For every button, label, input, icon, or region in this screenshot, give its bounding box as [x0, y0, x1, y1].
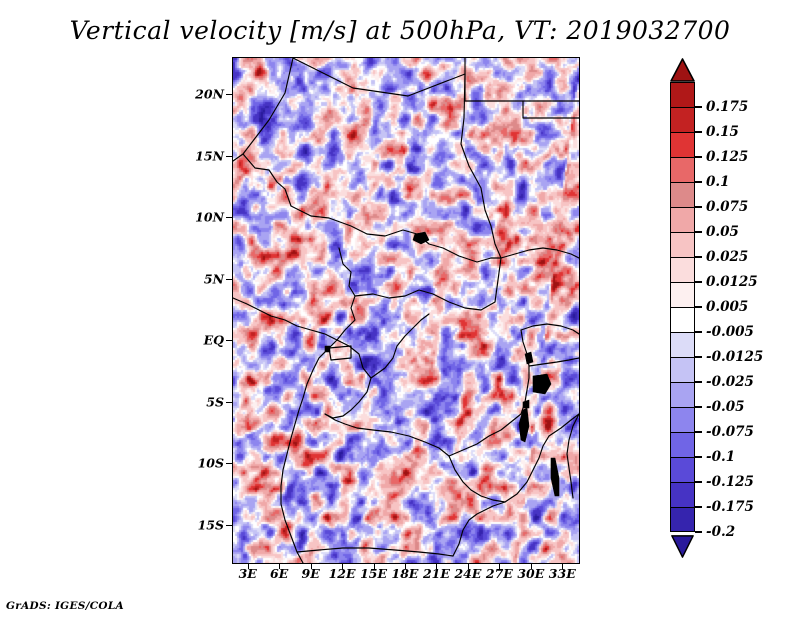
border-gabon-congo [325, 340, 371, 418]
x-tick-label-3e: 3E [239, 566, 257, 581]
border-zambia-tanzania [505, 436, 549, 502]
colorbar-tick-mark [695, 131, 702, 132]
colorbar-label: 0.0125 [706, 274, 758, 290]
coast-nigeria [285, 320, 337, 340]
colorbar-label: 0.05 [706, 224, 739, 240]
colorbar-label: 0.025 [706, 249, 748, 265]
colorbar-label: -0.1 [706, 449, 735, 465]
grads-attribution: GrADS: IGES/COLA [6, 600, 124, 612]
colorbar-tick-mark [695, 181, 702, 182]
colorbar-label: 0.15 [706, 124, 739, 140]
colorbar-label: 0.175 [706, 99, 748, 115]
colorbar-label: 0.125 [706, 149, 748, 165]
y-tick-mark [226, 463, 232, 464]
colorbar-band [670, 432, 695, 457]
colorbar-tick-mark [695, 531, 702, 532]
border-egypt-sudan [523, 101, 579, 118]
colorbar-tick-mark [695, 206, 702, 207]
border-ethiopia-kenya [521, 324, 579, 334]
colorbar-band [670, 307, 695, 332]
y-tick-label-15s: 15S [198, 518, 224, 533]
colorbar-band [670, 257, 695, 282]
colorbar-band [670, 382, 695, 407]
colorbar-tick-mark [695, 281, 702, 282]
colorbar-tick-mark [695, 506, 702, 507]
y-tick-label-5s: 5S [206, 394, 224, 409]
colorbar-band [670, 332, 695, 357]
colorbar-arrow-bottom-icon [670, 534, 695, 558]
border-sudan-ethiopia [501, 248, 579, 258]
border-algeria-niger [233, 58, 293, 161]
colorbar-label: -0.075 [706, 424, 754, 440]
page-title: Vertical velocity [m/s] at 500hPa, VT: 2… [0, 16, 800, 45]
colorbar-band [670, 482, 695, 507]
map-plot-area [232, 57, 580, 564]
colorbar-label: -0.125 [706, 474, 754, 490]
border-car-sudan [433, 258, 501, 310]
colorbar-tick-mark [695, 431, 702, 432]
y-tick-mark [226, 94, 232, 95]
colorbar-tick-mark [695, 406, 702, 407]
colorbar-band [670, 132, 695, 157]
colorbar-tick-mark [695, 481, 702, 482]
border-niger-chad [461, 74, 469, 166]
colorbar-tick-mark [695, 106, 702, 107]
colorbar-band [670, 282, 695, 307]
colorbar-label: 0.1 [706, 174, 730, 190]
colorbar-label: -0.2 [706, 524, 735, 540]
island-bioko [325, 346, 330, 352]
colorbar-band [670, 407, 695, 432]
colorbar-band [670, 207, 695, 232]
x-tick-label-21e: 21E [423, 566, 450, 581]
colorbar-band [670, 232, 695, 257]
colorbar-label: 0.075 [706, 199, 748, 215]
colorbar-band [670, 107, 695, 132]
colorbar-band [670, 457, 695, 482]
coast-angola [281, 424, 303, 563]
border-chad-car [417, 234, 501, 262]
country-borders-overlay [233, 58, 579, 563]
y-tick-label-eq: EQ [204, 333, 224, 348]
border-kenya-tanzania [549, 414, 579, 436]
y-tick-label-10n: 10N [195, 210, 224, 225]
border-chad-sudan [469, 166, 501, 258]
y-tick-mark [226, 217, 232, 218]
y-tick-label-20n: 20N [195, 86, 224, 101]
colorbar-tick-mark [695, 356, 702, 357]
colorbar-band [670, 357, 695, 382]
colorbar-band [670, 507, 695, 532]
coast-tanzania [567, 414, 579, 498]
y-tick-mark [226, 279, 232, 280]
x-tick-label-24e: 24E [454, 566, 481, 581]
colorbar-tick-mark [695, 306, 702, 307]
border-drc-angola [325, 414, 449, 456]
border-angola-zambia [449, 456, 505, 502]
colorbar-tick-mark [695, 331, 702, 332]
x-tick-label-6e: 6E [270, 566, 288, 581]
border-angola-namibia [297, 548, 453, 556]
colorbar-band [670, 182, 695, 207]
border-niger-nigeria [291, 206, 417, 236]
border-zambia-botswana [453, 502, 505, 556]
border-drc-zambia [449, 414, 521, 456]
y-tick-label-15n: 15N [195, 148, 224, 163]
coast-gabon [295, 340, 337, 424]
x-tick-label-30e: 30E [517, 566, 544, 581]
lake-malawi [551, 458, 559, 496]
x-tick-label-15e: 15E [360, 566, 387, 581]
y-tick-mark [226, 402, 232, 403]
x-tick-label-9e: 9E [302, 566, 320, 581]
border-cameroon-car [355, 290, 433, 298]
colorbar-tick-mark [695, 256, 702, 257]
lake-albert [525, 352, 533, 364]
colorbar-label: -0.005 [706, 324, 754, 340]
colorbar-label: 0.005 [706, 299, 748, 315]
y-tick-mark [226, 525, 232, 526]
y-tick-mark [226, 340, 232, 341]
border-nigeria-cameroon [337, 248, 355, 340]
colorbar-label: -0.025 [706, 374, 754, 390]
x-tick-label-27e: 27E [486, 566, 513, 581]
border-mali-niger [243, 154, 291, 206]
colorbar-label: -0.0125 [706, 349, 763, 365]
lake-kivu [523, 400, 529, 408]
x-tick-label-18e: 18E [392, 566, 419, 581]
border-libya-egypt [465, 58, 579, 101]
colorbar-label: -0.05 [706, 399, 744, 415]
y-tick-mark [226, 156, 232, 157]
colorbar-tick-mark [695, 156, 702, 157]
coast-gulf-of-guinea [233, 298, 285, 320]
lake-victoria [533, 374, 551, 394]
border-uganda-kenya [529, 358, 579, 366]
x-tick-label-12e: 12E [329, 566, 356, 581]
border-equatorial-guinea [329, 346, 351, 360]
border-congo-drc [371, 314, 429, 378]
colorbar-legend: 0.1750.150.1250.10.0750.050.0250.01250.0… [670, 82, 695, 532]
colorbar-band [670, 82, 695, 107]
y-tick-label-5n: 5N [204, 271, 224, 286]
colorbar-tick-mark [695, 231, 702, 232]
colorbar-band [670, 157, 695, 182]
colorbar-label: -0.175 [706, 499, 754, 515]
colorbar-arrow-top-icon [670, 58, 695, 82]
colorbar-tick-mark [695, 456, 702, 457]
x-tick-label-33e: 33E [549, 566, 576, 581]
colorbar-tick-mark [695, 381, 702, 382]
border-algeria-libya [293, 58, 465, 96]
y-tick-label-10s: 10S [198, 456, 224, 471]
lake-tanganyika [519, 408, 529, 442]
